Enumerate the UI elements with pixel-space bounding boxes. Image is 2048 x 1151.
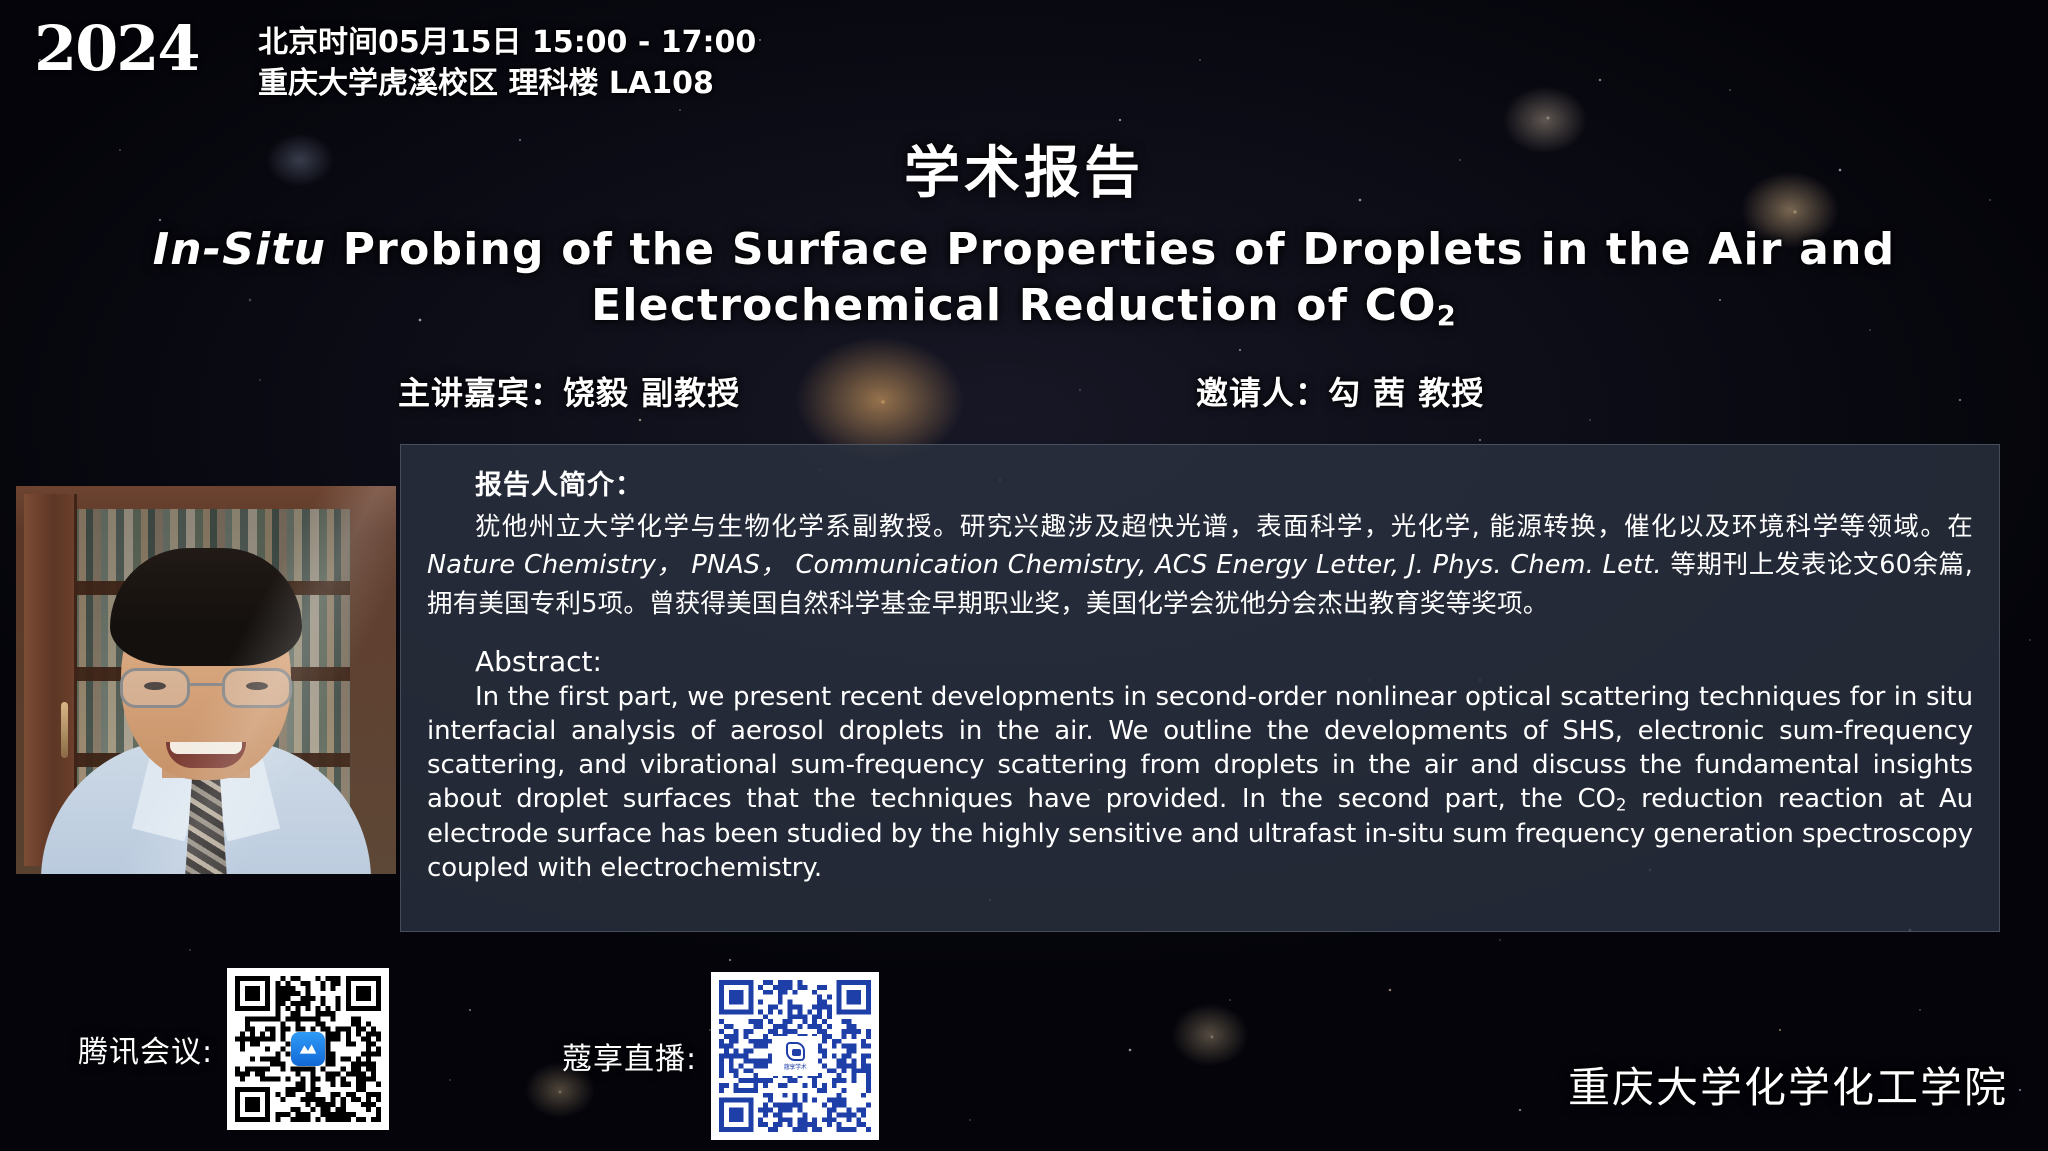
page-title-en: In-Situ Probing of the Surface Propertie… xyxy=(60,222,1988,335)
live-platform-logo-icon: 蔻享学术 xyxy=(772,1036,818,1076)
abstract-paragraph: In the first part, we present recent dev… xyxy=(427,680,1973,885)
live-logo-mark xyxy=(786,1042,805,1061)
page-title-cn: 学术报告 xyxy=(0,128,2048,209)
bio-heading: 报告人简介： xyxy=(475,463,1973,502)
datetime-venue-block: 北京时间05月15日 15:00 - 17:00 重庆大学虎溪校区 理科楼 LA… xyxy=(258,22,756,105)
abstract-heading: Abstract: xyxy=(475,645,1973,678)
info-panel: 报告人简介： 犹他州立大学化学与生物化学系副教授。研究兴趣涉及超快光谱，表面科学… xyxy=(400,444,2000,932)
speaker-portrait-photo xyxy=(16,486,396,874)
inviter-label: 邀请人：勾 茜 教授 xyxy=(1196,368,1484,414)
people-row: 主讲嘉宾：饶毅 副教授 邀请人：勾 茜 教授 xyxy=(0,368,2048,416)
qr-group-meeting: 腾讯会议: xyxy=(78,968,389,1130)
glass-reflection-overlay xyxy=(16,486,396,874)
bio-part1: 犹他州立大学化学与生物化学系副教授。研究兴趣涉及超快光谱，表面科学，光化学, 能… xyxy=(475,512,1973,542)
qr-code-tencent-meeting[interactable] xyxy=(227,968,389,1130)
speaker-label: 主讲嘉宾：饶毅 副教授 xyxy=(398,368,740,414)
venue-text: 重庆大学虎溪校区 理科楼 LA108 xyxy=(258,63,756,104)
title-en-italic-part: In-Situ xyxy=(153,224,327,275)
title-en-line-2: Electrochemical Reduction of CO2 xyxy=(60,278,1988,335)
title-en-rest-part: Probing of the Surface Properties of Dro… xyxy=(326,224,1895,275)
tencent-meeting-logo-icon xyxy=(291,1032,325,1066)
title-en-line-1: In-Situ Probing of the Surface Propertie… xyxy=(60,222,1988,278)
qr-live-label: 蔻享直播: xyxy=(562,1034,697,1078)
qr-code-live-stream[interactable]: 蔻享学术 xyxy=(711,972,879,1140)
organization-footer: 重庆大学化学化工学院 xyxy=(1568,1054,2008,1115)
qr-group-live: 蔻享直播: 蔻享学术 xyxy=(562,972,879,1140)
bio-paragraph: 犹他州立大学化学与生物化学系副教授。研究兴趣涉及超快光谱，表面科学，光化学, 能… xyxy=(427,508,1973,623)
bio-journals: Nature Chemistry， PNAS， Communication Ch… xyxy=(427,550,1662,580)
datetime-text: 北京时间05月15日 15:00 - 17:00 xyxy=(258,22,756,63)
live-logo-text: 蔻享学术 xyxy=(784,1062,807,1071)
qr-meeting-label: 腾讯会议: xyxy=(78,1027,213,1071)
abstract-subscript: 2 xyxy=(1616,796,1626,815)
year-label: 2024 xyxy=(34,18,199,80)
poster-root: 2024 北京时间05月15日 15:00 - 17:00 重庆大学虎溪校区 理… xyxy=(0,0,2048,1151)
title-en-line2-text: Electrochemical Reduction of CO xyxy=(591,280,1437,331)
title-en-subscript: 2 xyxy=(1437,301,1457,332)
